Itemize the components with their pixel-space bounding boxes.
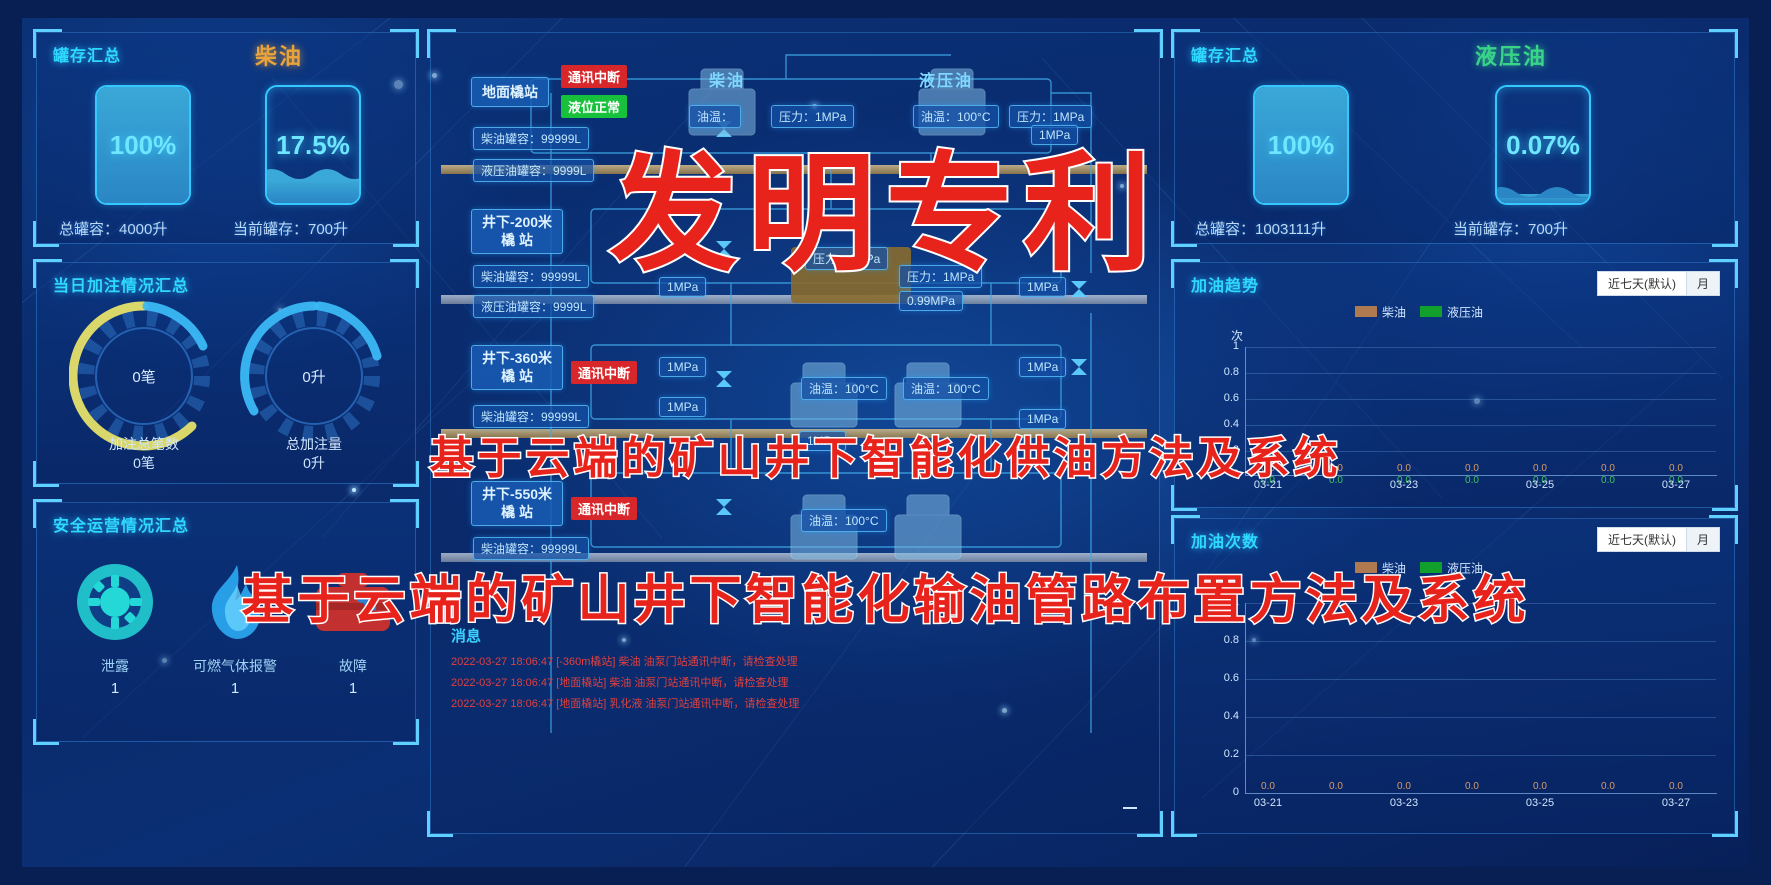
message-line: 2022-03-27 18:06:47 [地面橇站] 柴油 油泵门站通讯中断，请… bbox=[451, 673, 991, 694]
y-tick: 1 bbox=[1211, 340, 1239, 352]
y-tick: 0.6 bbox=[1211, 672, 1239, 684]
dashboard-frame: 罐存汇总 柴油 100% 总罐容：4000升 17.5% 当前罐存：700升 当… bbox=[22, 18, 1749, 867]
oil-type-label: 液压油 bbox=[1475, 39, 1547, 71]
safety-item-name: 故障 bbox=[293, 656, 413, 676]
range-button-week[interactable]: 近七天(默认) bbox=[1598, 272, 1686, 295]
station-label-0[interactable]: 地面橇站 bbox=[471, 77, 549, 107]
data-label-diesel: 0.0 bbox=[1593, 463, 1623, 474]
data-label-diesel: 0.0 bbox=[1525, 463, 1555, 474]
x-tick: 03-27 bbox=[1654, 479, 1698, 491]
data-label-diesel: 0.0 bbox=[1525, 781, 1555, 792]
total-tank-card: 100% bbox=[1253, 85, 1349, 205]
current-tank-caption: 当前罐存：700升 bbox=[1453, 218, 1568, 239]
data-label-diesel: 0.0 bbox=[1321, 781, 1351, 792]
minimize-button[interactable] bbox=[1123, 799, 1141, 817]
safety-item-value: 1 bbox=[293, 680, 413, 697]
readout-temp-2: 油温：100°C bbox=[801, 377, 887, 400]
oil-type-label: 柴油 bbox=[255, 39, 303, 71]
tank-percent: 17.5% bbox=[267, 87, 359, 203]
watermark-patent-line-2: 基于云端的矿山井下智能化输油管路布置方法及系统 bbox=[241, 558, 1529, 633]
legend-label-diesel: 柴油 bbox=[1382, 305, 1406, 319]
range-selector-count[interactable]: 近七天(默认) 月 bbox=[1597, 527, 1720, 552]
tank-gauge-current: 0.07% bbox=[1495, 85, 1591, 205]
message-line: 2022-03-27 18:06:47 [地面橇站] 乳化液 油泵门站通讯中断，… bbox=[451, 694, 991, 715]
data-label-diesel: 0.0 bbox=[1389, 463, 1419, 474]
y-tick: 0.8 bbox=[1211, 366, 1239, 378]
safety-item-leak: 泄露 1 bbox=[55, 559, 175, 697]
watermark-patent-line-1: 基于云端的矿山井下智能化供油方法及系统 bbox=[430, 422, 1342, 486]
pressure-tag-3: 1MPa bbox=[659, 357, 706, 377]
panel-right-tank-summary: 罐存汇总 液压油 100% 总罐容：1003111升 0.07% 当前罐存：70… bbox=[1174, 32, 1735, 244]
y-tick: 0.8 bbox=[1211, 634, 1239, 646]
station-badge-0-0: 通讯中断 bbox=[561, 65, 627, 88]
x-tick: 03-25 bbox=[1518, 797, 1562, 809]
panel-title: 罐存汇总 bbox=[1191, 42, 1259, 66]
station-label-3[interactable]: 井下-550米 橇 站 bbox=[471, 481, 563, 526]
station-badge-3-0: 通讯中断 bbox=[571, 497, 637, 520]
watermark-title: 发明专利 bbox=[609, 110, 1161, 295]
station-label-2[interactable]: 井下-360米 橇 站 bbox=[471, 345, 563, 390]
data-label-diesel: 0.0 bbox=[1253, 781, 1283, 792]
pressure-tag-4: 1MPa bbox=[1019, 357, 1066, 377]
range-selector-trend[interactable]: 近七天(默认) 月 bbox=[1597, 271, 1720, 296]
message-panel: 消息 2022-03-27 18:06:47 [-360m橇站] 柴油 油泵门站… bbox=[451, 625, 991, 715]
readout-temp-4: 油温：100°C bbox=[801, 509, 887, 532]
range-button-month[interactable]: 月 bbox=[1686, 272, 1719, 295]
x-tick: 03-21 bbox=[1246, 797, 1290, 809]
station-chip-0-1: 液压油罐容：9999L bbox=[473, 159, 594, 182]
panel-title: 当日加注情况汇总 bbox=[53, 272, 189, 296]
total-tank-caption: 总罐容：1003111升 bbox=[1195, 218, 1326, 239]
safety-item-value: 1 bbox=[175, 680, 295, 697]
data-label-hydraulic: 0.0 bbox=[1457, 475, 1487, 486]
data-label-hydraulic: 0.0 bbox=[1593, 475, 1623, 486]
panel-left-daily-refuel: 当日加注情况汇总 0笔 加注总笔数 0笔 0升 总加注量 0升 bbox=[36, 262, 416, 484]
current-tank-caption: 当前罐存：700升 bbox=[233, 218, 348, 239]
station-chip-0-0: 柴油罐容：99999L bbox=[473, 127, 589, 150]
gauge-refuel-count: 0笔 bbox=[69, 301, 219, 451]
pressure-tag-5: 1MPa bbox=[659, 397, 706, 417]
panel-title: 加油次数 bbox=[1191, 528, 1259, 552]
equipment-label-diesel: 柴油 bbox=[709, 67, 745, 91]
current-tank-card: 17.5% bbox=[265, 85, 361, 205]
safety-item-value: 1 bbox=[55, 680, 175, 697]
data-label-diesel: 0.0 bbox=[1661, 781, 1691, 792]
tank-gauge-current: 17.5% bbox=[265, 85, 361, 205]
range-button-week[interactable]: 近七天(默认) bbox=[1598, 528, 1686, 551]
tank-percent: 0.07% bbox=[1497, 87, 1589, 203]
gauge-caption: 加注总笔数 0笔 bbox=[59, 435, 229, 473]
message-line: 2022-03-27 18:06:47 [-360m橇站] 柴油 油泵门站通讯中… bbox=[451, 652, 991, 673]
gauge-value: 0笔 bbox=[69, 301, 219, 451]
legend-item-diesel: 柴油 bbox=[1355, 303, 1406, 321]
legend-swatch-diesel bbox=[1355, 306, 1377, 317]
chart-legend-trend: 柴油 液压油 bbox=[1355, 303, 1483, 321]
panel-left-tank-summary: 罐存汇总 柴油 100% 总罐容：4000升 17.5% 当前罐存：700升 bbox=[36, 32, 416, 244]
panel-title: 罐存汇总 bbox=[53, 42, 121, 66]
data-label-diesel: 0.0 bbox=[1457, 781, 1487, 792]
x-tick: 03-25 bbox=[1518, 479, 1562, 491]
station-chip-1-1: 液压油罐容：9999L bbox=[473, 295, 594, 318]
data-label-diesel: 0.0 bbox=[1457, 463, 1487, 474]
current-tank-card: 0.07% bbox=[1495, 85, 1591, 205]
range-button-month[interactable]: 月 bbox=[1686, 528, 1719, 551]
safety-item-name: 可燃气体报警 bbox=[175, 656, 295, 676]
panel-title: 安全运营情况汇总 bbox=[53, 512, 189, 536]
tank-percent: 100% bbox=[97, 87, 189, 203]
legend-item-hydraulic: 液压油 bbox=[1420, 303, 1483, 321]
station-badge-2-0: 通讯中断 bbox=[571, 361, 637, 384]
gauge-refuel-volume: 0升 bbox=[239, 301, 389, 451]
data-label-diesel: 0.0 bbox=[1389, 781, 1419, 792]
readout-temp-3: 油温：100°C bbox=[903, 377, 989, 400]
x-tick: 03-23 bbox=[1382, 797, 1426, 809]
y-tick: 0 bbox=[1211, 786, 1239, 798]
safety-item-name: 泄露 bbox=[55, 656, 175, 676]
data-label-diesel: 0.0 bbox=[1661, 463, 1691, 474]
total-tank-caption: 总罐容：4000升 bbox=[59, 218, 167, 239]
x-tick: 03-27 bbox=[1654, 797, 1698, 809]
tank-percent: 100% bbox=[1255, 87, 1347, 203]
screen: 罐存汇总 柴油 100% 总罐容：4000升 17.5% 当前罐存：700升 当… bbox=[0, 0, 1771, 885]
gauge-value: 0升 bbox=[239, 301, 389, 451]
y-tick: 0.4 bbox=[1211, 710, 1239, 722]
station-chip-3-0: 柴油罐容：99999L bbox=[473, 537, 589, 560]
station-chip-1-0: 柴油罐容：99999L bbox=[473, 265, 589, 288]
leak-gear-icon bbox=[72, 559, 158, 645]
station-label-1[interactable]: 井下-200米 橇 站 bbox=[471, 209, 563, 254]
legend-swatch-hydraulic bbox=[1420, 306, 1442, 317]
y-tick: 0.2 bbox=[1211, 748, 1239, 760]
data-label-diesel: 0.0 bbox=[1593, 781, 1623, 792]
total-tank-card: 100% bbox=[95, 85, 191, 205]
legend-label-hydraulic: 液压油 bbox=[1447, 305, 1483, 319]
x-tick: 03-23 bbox=[1382, 479, 1426, 491]
equipment-label-hydraulic: 液压油 bbox=[919, 67, 973, 91]
tank-gauge-total: 100% bbox=[95, 85, 191, 205]
panel-title: 加油趋势 bbox=[1191, 272, 1259, 296]
chart-plot-count: 1 0.8 0.6 0.4 0.2 0 0.0 0.0 0.0 0.0 0.0 … bbox=[1211, 603, 1721, 811]
tank-gauge-total: 100% bbox=[1253, 85, 1349, 205]
y-tick: 0.6 bbox=[1211, 392, 1239, 404]
gauge-caption: 总加注量 0升 bbox=[229, 435, 399, 473]
